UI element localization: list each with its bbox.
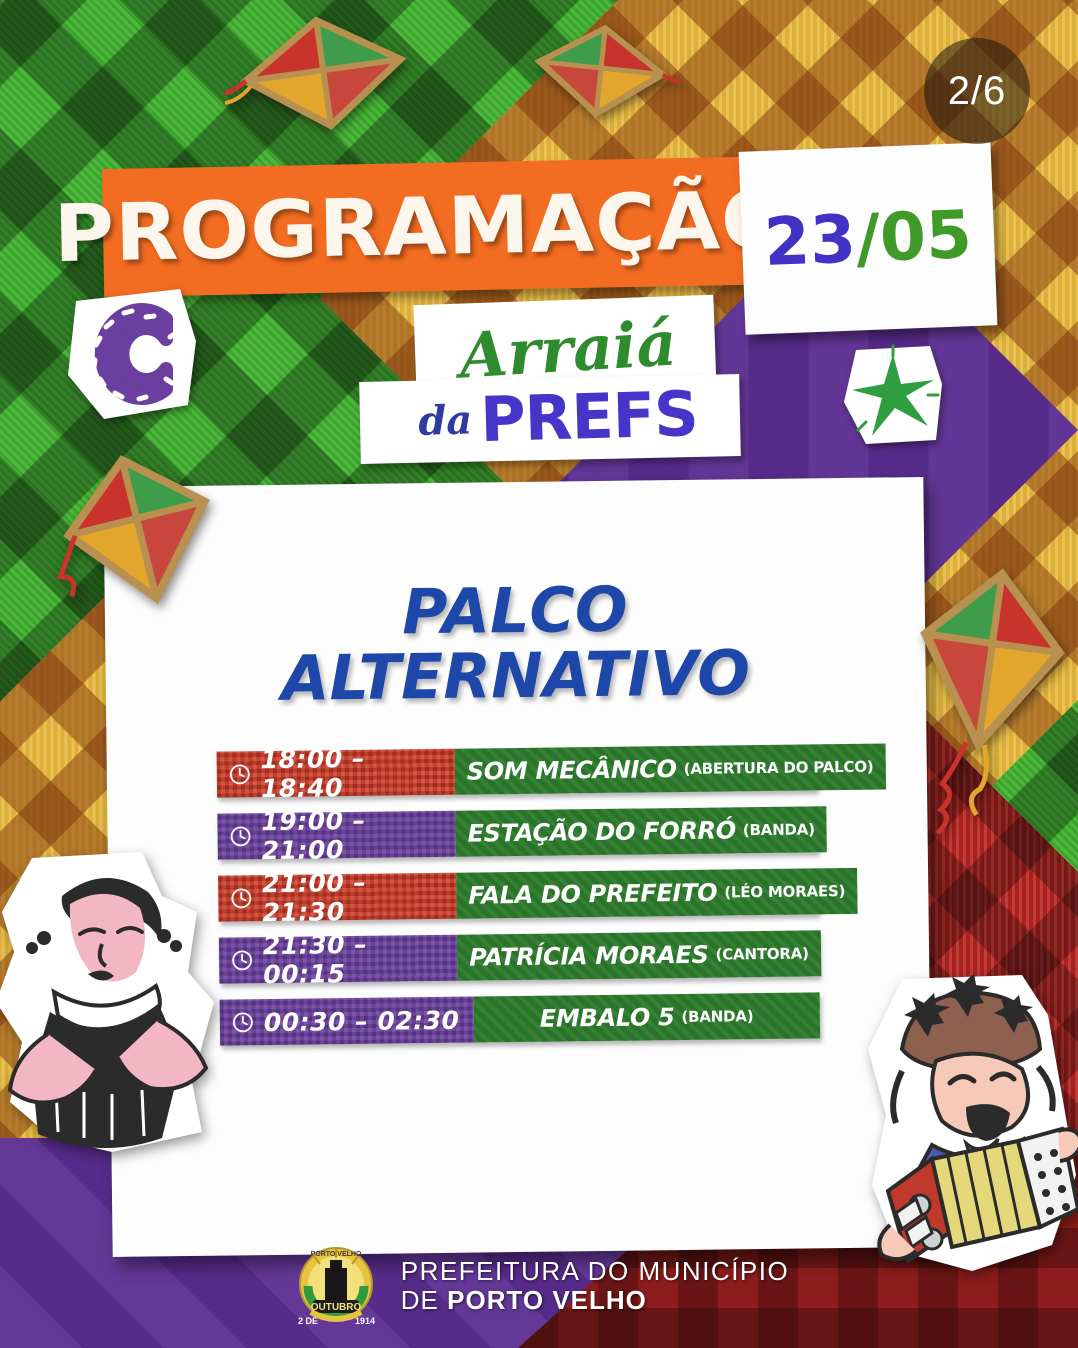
logo-brand-row: da PREFS (367, 369, 749, 466)
schedule-time-text: 18:00 – 18:40 (260, 743, 441, 803)
schedule-time-text: 19:00 – 21:00 (261, 805, 442, 865)
schedule-row[interactable]: 18:00 – 18:40 SOM MECÂNICO (ABERTURA DO … (217, 745, 818, 798)
schedule-title: EMBALO 5 (540, 1003, 675, 1033)
schedule-time-text: 21:30 – 00:15 (263, 929, 444, 989)
footer: OUTUBRO PORTO VELHO 2 DE 1914 PREFEITURA… (0, 1242, 1078, 1330)
logo-connector: da (418, 396, 473, 444)
schedule-subtitle: (ABERTURA DO PALCO) (684, 758, 874, 778)
schedule-row[interactable]: 00:30 – 02:30 EMBALO 5 (BANDA) (220, 993, 821, 1046)
footer-line1: PREFEITURA DO MUNICÍPIO (401, 1257, 789, 1286)
footer-line2-prefix: DE (401, 1285, 447, 1315)
clock-icon (229, 825, 251, 847)
schedule-title: FALA DO PREFEITO (468, 879, 717, 910)
lantern-icon (898, 545, 1078, 865)
footer-line2: DE PORTO VELHO (401, 1286, 789, 1315)
schedule-label-bar: SOM MECÂNICO (ABERTURA DO PALCO) (455, 744, 886, 795)
schedule-title: SOM MECÂNICO (467, 755, 677, 786)
crest-band-text: OUTUBRO (311, 1302, 362, 1313)
logo-brand: PREFS (479, 377, 699, 456)
porto-velho-crest-icon: OUTUBRO PORTO VELHO 2 DE 1914 (289, 1242, 383, 1330)
schedule-row[interactable]: 19:00 – 21:00 ESTAÇÃO DO FORRÓ (BANDA) (217, 807, 818, 860)
schedule-time-text: 00:30 – 02:30 (264, 1005, 460, 1036)
crest-right-text: 1914 (355, 1316, 375, 1326)
page-indicator-badge: 2/6 (924, 38, 1030, 144)
schedule-time-chip: 00:30 – 02:30 (220, 997, 474, 1046)
crest-top-text: PORTO VELHO (310, 1251, 361, 1258)
clock-icon (232, 1011, 254, 1033)
schedule-subtitle: (CANTORA) (715, 945, 808, 964)
event-date-card: 23/05 (739, 142, 998, 335)
clock-icon (230, 887, 252, 909)
footer-city: PORTO VELHO (447, 1285, 647, 1315)
schedule-label-bar: ESTAÇÃO DO FORRÓ (BANDA) (455, 806, 827, 857)
star-sticker-icon (838, 340, 948, 450)
lantern-icon (48, 440, 233, 625)
lantern-icon (520, 18, 680, 138)
clock-icon (229, 763, 251, 785)
clock-icon (231, 949, 253, 971)
banner-title-text: PROGRAMAÇÃO (53, 174, 793, 280)
schedule-time-text: 21:00 – 21:30 (262, 867, 443, 927)
schedule-label-bar: PATRÍCIA MORAES (CANTORA) (457, 930, 821, 980)
schedule-time-chip: 21:30 – 00:15 (219, 935, 458, 984)
schedule-time-chip: 18:00 – 18:40 (217, 749, 456, 798)
schedule-time-chip: 19:00 – 21:00 (217, 811, 456, 860)
schedule-subtitle: (BANDA) (743, 821, 815, 840)
schedule-row[interactable]: 21:00 – 21:30 FALA DO PREFEITO (LÉO MORA… (218, 869, 819, 922)
footer-text: PREFEITURA DO MUNICÍPIO DE PORTO VELHO (401, 1257, 789, 1315)
lantern-icon (225, 8, 425, 158)
poster-root: 2/6 (0, 0, 1078, 1348)
event-logo: Arraiá da PREFS (360, 300, 760, 475)
schedule-row[interactable]: 21:30 – 00:15 PATRÍCIA MORAES (CANTORA) (219, 931, 820, 984)
schedule-title: ESTAÇÃO DO FORRÓ (467, 817, 736, 848)
stage-title-line2: ALTERNATIVO (105, 638, 926, 713)
programacao-banner: PROGRAMAÇÃO (102, 157, 744, 297)
schedule-title: PATRÍCIA MORAES (469, 941, 709, 972)
stage-title-line1: PALCO (402, 573, 628, 649)
schedule-subtitle: (BANDA) (681, 1007, 753, 1026)
schedule-subtitle: (LÉO MORAES) (724, 882, 845, 901)
dancer-sticker-icon (0, 852, 217, 1157)
schedule-label-bar: EMBALO 5 (BANDA) (473, 993, 820, 1043)
schedule-time-chip: 21:00 – 21:30 (218, 873, 457, 922)
event-date-text: 23/05 (763, 196, 974, 281)
accordion-player-icon (862, 975, 1078, 1275)
event-date-month: /05 (854, 196, 973, 277)
crest-left-text: 2 DE (298, 1316, 318, 1326)
c-sticker-icon (62, 283, 202, 425)
schedule-label-bar: FALA DO PREFEITO (LÉO MORAES) (456, 868, 857, 919)
schedule-list: 18:00 – 18:40 SOM MECÂNICO (ABERTURA DO … (217, 745, 821, 1046)
event-date-day: 23 (763, 200, 858, 280)
